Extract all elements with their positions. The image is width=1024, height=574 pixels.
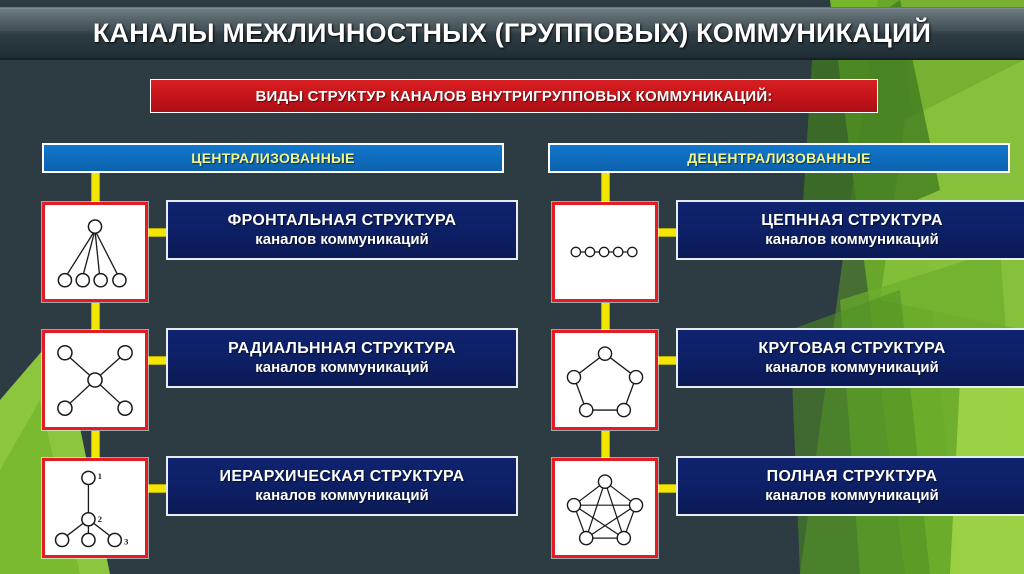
- label-circular-title: КРУГОВАЯ СТРУКТУРА: [758, 340, 945, 358]
- page-title: КАНАЛЫ МЕЖЛИЧНОСТНЫХ (ГРУППОВЫХ) КОММУНИ…: [93, 18, 931, 49]
- column-header-centralized-label: ЦЕНТРАЛИЗОВАННЫЕ: [191, 150, 355, 166]
- frontal-structure-diagram: [42, 202, 148, 302]
- label-frontal-structure: ФРОНТАЛЬНАЯ СТРУКТУРА каналов коммуникац…: [166, 200, 518, 260]
- complete-structure-diagram: [552, 458, 658, 558]
- connector-vertical-right-3: [601, 431, 610, 459]
- label-complete-title: ПОЛНАЯ СТРУКТУРА: [767, 468, 938, 486]
- connector-horizontal-left-2: [148, 356, 166, 365]
- connector-horizontal-left-3: [148, 484, 166, 493]
- label-hierarchical-structure: ИЕРАРХИЧЕСКАЯ СТРУКТУРА каналов коммуник…: [166, 456, 518, 516]
- label-hierarchical-subtitle: каналов коммуникаций: [255, 487, 429, 504]
- label-complete-structure: ПОЛНАЯ СТРУКТУРА каналов коммуникаций: [676, 456, 1024, 516]
- label-frontal-title: ФРОНТАЛЬНАЯ СТРУКТУРА: [228, 212, 457, 230]
- slide-canvas: КАНАЛЫ МЕЖЛИЧНОСТНЫХ (ГРУППОВЫХ) КОММУНИ…: [0, 0, 1024, 574]
- label-chain-title: ЦЕПННАЯ СТРУКТУРА: [761, 212, 943, 230]
- connector-vertical-left-1: [91, 173, 100, 203]
- section-banner: ВИДЫ СТРУКТУР КАНАЛОВ ВНУТРИГРУППОВЫХ КО…: [150, 79, 878, 113]
- connector-vertical-right-2: [601, 303, 610, 331]
- column-header-decentralized-label: ДЕЦЕНТРАЛИЗОВАННЫЕ: [687, 150, 870, 166]
- label-frontal-subtitle: каналов коммуникаций: [255, 231, 429, 248]
- connector-horizontal-right-2: [658, 356, 676, 365]
- label-radial-subtitle: каналов коммуникаций: [255, 359, 429, 376]
- label-chain-subtitle: каналов коммуникаций: [765, 231, 939, 248]
- label-radial-structure: РАДИАЛЬННАЯ СТРУКТУРА каналов коммуникац…: [166, 328, 518, 388]
- column-header-decentralized: ДЕЦЕНТРАЛИЗОВАННЫЕ: [548, 143, 1010, 173]
- label-chain-structure: ЦЕПННАЯ СТРУКТУРА каналов коммуникаций: [676, 200, 1024, 260]
- connector-horizontal-right-3: [658, 484, 676, 493]
- column-header-centralized: ЦЕНТРАЛИЗОВАННЫЕ: [42, 143, 504, 173]
- connector-vertical-left-3: [91, 431, 100, 459]
- label-hierarchical-title: ИЕРАРХИЧЕСКАЯ СТРУКТУРА: [220, 468, 465, 486]
- connector-horizontal-left-1: [148, 228, 166, 237]
- circular-structure-diagram: [552, 330, 658, 430]
- chain-structure-diagram: [552, 202, 658, 302]
- connector-horizontal-right-1: [658, 228, 676, 237]
- hierarchical-node-label-1: 1: [98, 471, 102, 481]
- label-circular-structure: КРУГОВАЯ СТРУКТУРА каналов коммуникаций: [676, 328, 1024, 388]
- label-complete-subtitle: каналов коммуникаций: [765, 487, 939, 504]
- slide-title-bar: КАНАЛЫ МЕЖЛИЧНОСТНЫХ (ГРУППОВЫХ) КОММУНИ…: [0, 7, 1024, 60]
- label-radial-title: РАДИАЛЬННАЯ СТРУКТУРА: [228, 340, 456, 358]
- hierarchical-structure-diagram: 1 2 3: [42, 458, 148, 558]
- hierarchical-node-label-2: 2: [98, 514, 102, 524]
- hierarchical-node-label-3: 3: [124, 537, 128, 547]
- connector-vertical-right-1: [601, 173, 610, 203]
- section-banner-label: ВИДЫ СТРУКТУР КАНАЛОВ ВНУТРИГРУППОВЫХ КО…: [255, 88, 772, 105]
- radial-structure-diagram: [42, 330, 148, 430]
- label-circular-subtitle: каналов коммуникаций: [765, 359, 939, 376]
- connector-vertical-left-2: [91, 303, 100, 331]
